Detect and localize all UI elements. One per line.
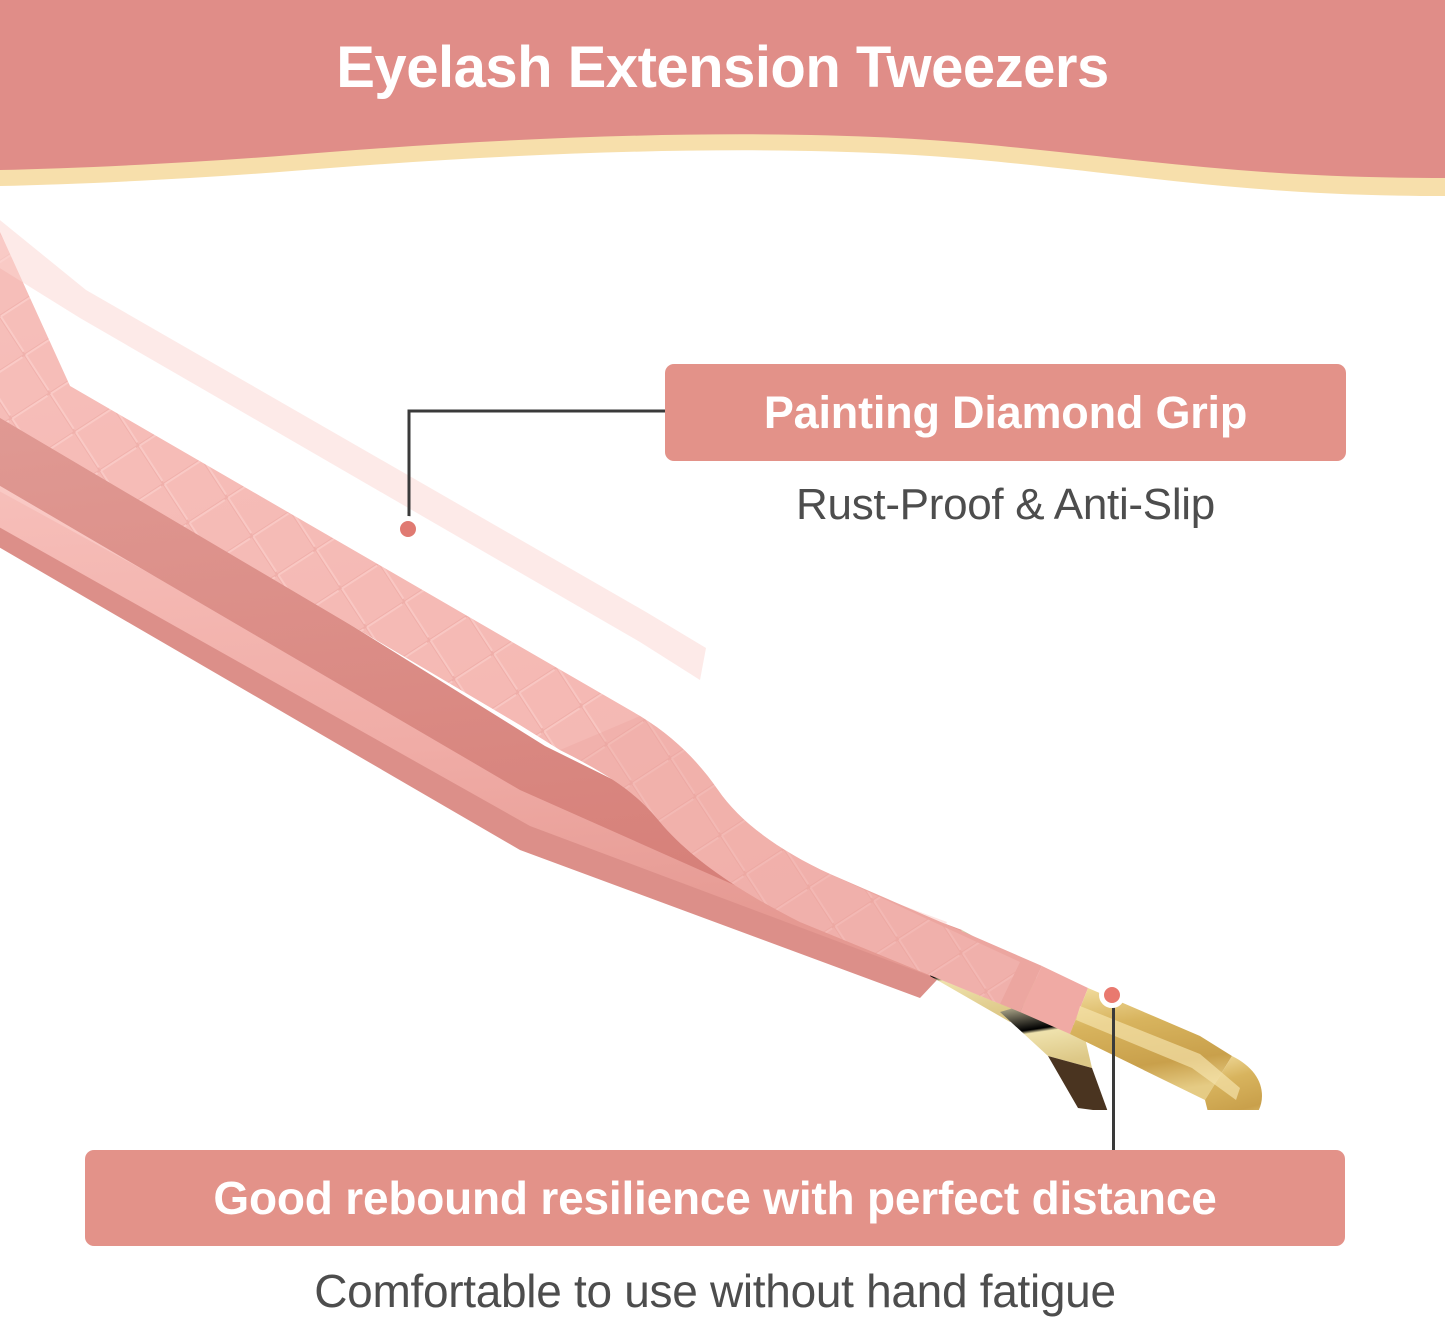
page-title: Eyelash Extension Tweezers xyxy=(0,38,1445,99)
callout-label-rebound-text: Good rebound resilience with perfect dis… xyxy=(213,1171,1216,1225)
callout-label-grip: Painting Diamond Grip xyxy=(665,364,1346,461)
callout-subtitle-grip: Rust-Proof & Anti-Slip xyxy=(665,480,1346,530)
callout-leader-line-rebound xyxy=(1112,1000,1115,1152)
callout-dot-rebound xyxy=(1099,982,1125,1008)
callout-subtitle-rebound: Comfortable to use without hand fatigue xyxy=(85,1264,1345,1318)
callout-label-grip-text: Painting Diamond Grip xyxy=(764,387,1247,439)
product-illustration xyxy=(0,150,1445,1110)
tweezers-drawing xyxy=(0,150,1445,1110)
infographic-canvas: Eyelash Extension Tweezers xyxy=(0,0,1445,1328)
callout-dot-grip xyxy=(395,516,421,542)
callout-label-rebound: Good rebound resilience with perfect dis… xyxy=(85,1150,1345,1246)
